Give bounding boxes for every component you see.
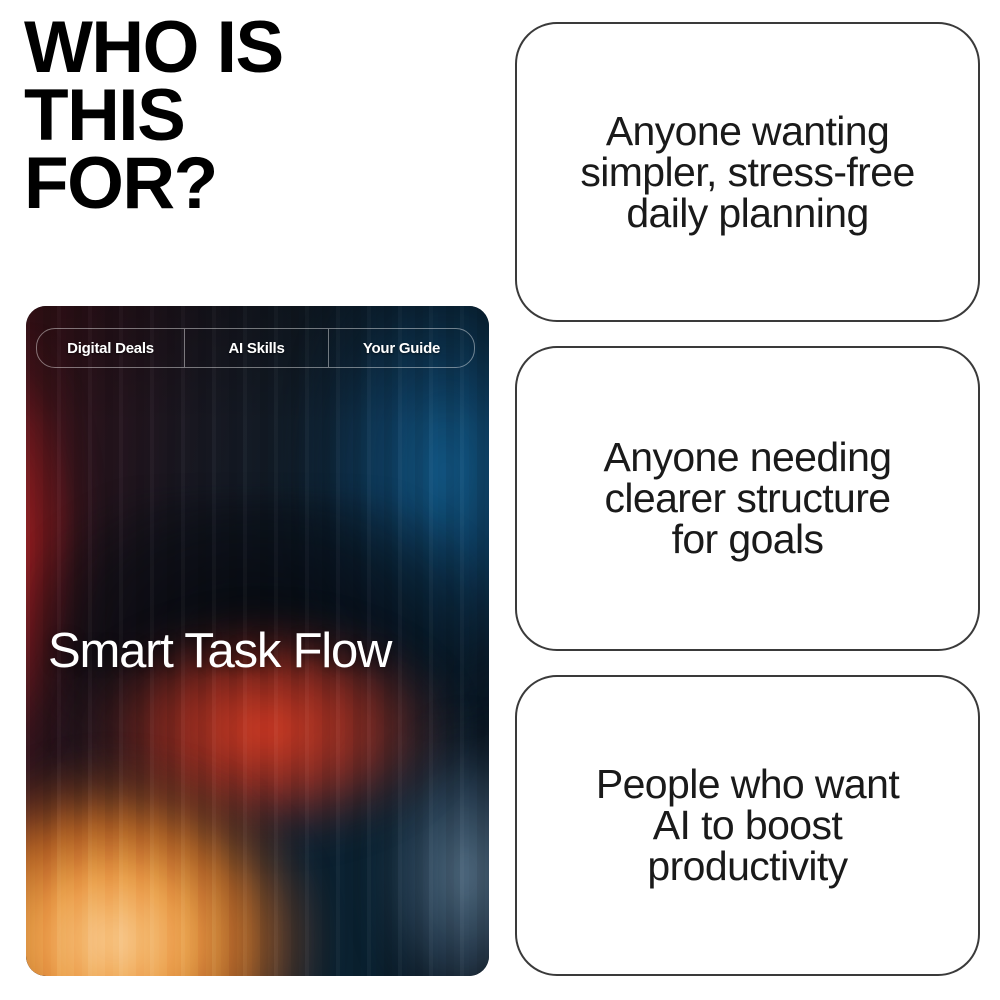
tab-ai-skills[interactable]: AI Skills: [184, 329, 329, 367]
audience-card[interactable]: Anyone needing clearer structure for goa…: [515, 346, 980, 651]
orange-glow-layer: [26, 708, 378, 976]
tab-your-guide[interactable]: Your Guide: [329, 329, 474, 367]
tab-bar[interactable]: Digital Deals AI Skills Your Guide: [36, 328, 475, 368]
page-title: Who is this for?: [24, 14, 444, 218]
product-preview-card[interactable]: Digital Deals AI Skills Your Guide Smart…: [26, 306, 489, 976]
audience-card-text: Anyone wanting simpler, stress-free dail…: [580, 111, 914, 234]
audience-card[interactable]: People who want AI to boost productivity: [515, 675, 980, 976]
tab-digital-deals[interactable]: Digital Deals: [37, 329, 184, 367]
audience-card[interactable]: Anyone wanting simpler, stress-free dail…: [515, 22, 980, 322]
audience-card-text: People who want AI to boost productivity: [596, 764, 899, 887]
audience-card-text: Anyone needing clearer structure for goa…: [604, 437, 892, 560]
product-card-title: Smart Task Flow: [48, 627, 391, 676]
